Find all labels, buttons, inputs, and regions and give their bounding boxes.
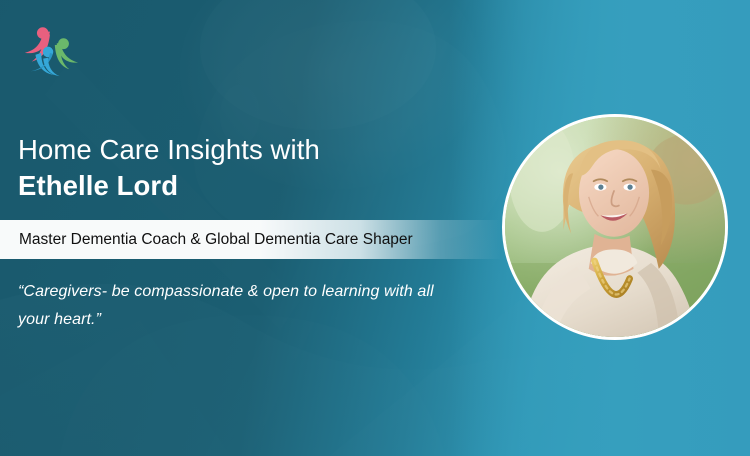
home-care-insights-banner: Home Care Insights with Ethelle Lord Mas… <box>0 0 750 456</box>
headline-line-2: Ethelle Lord <box>18 169 320 203</box>
avatar <box>502 114 728 340</box>
three-figures-logo-icon <box>18 20 80 78</box>
page-title: Home Care Insights with Ethelle Lord <box>18 133 320 202</box>
quote-text: “Caregivers- be compassionate & open to … <box>18 278 468 334</box>
subtitle-text: Master Dementia Coach & Global Dementia … <box>0 231 413 249</box>
subtitle-band: Master Dementia Coach & Global Dementia … <box>0 220 500 259</box>
headline-line-1: Home Care Insights with <box>18 133 320 167</box>
